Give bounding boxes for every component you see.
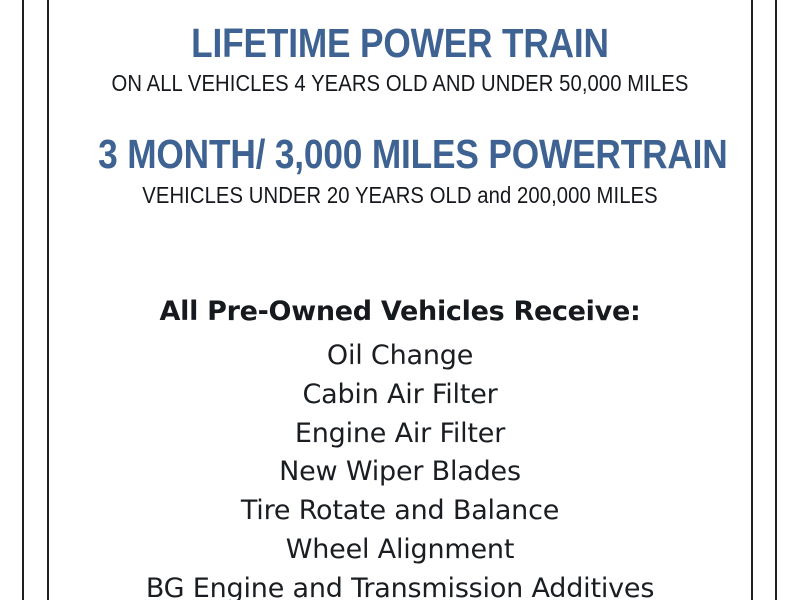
service-item: Wheel Alignment bbox=[49, 531, 751, 570]
warranty-block-lifetime: LIFETIME POWER TRAIN ON ALL VEHICLES 4 Y… bbox=[49, 0, 751, 97]
service-item: New Wiper Blades bbox=[49, 453, 751, 492]
warranty-headline-three-month: 3 MONTH/ 3,000 MILES POWERTRAIN bbox=[98, 133, 702, 176]
service-item: Cabin Air Filter bbox=[49, 376, 751, 415]
warranty-block-three-month: 3 MONTH/ 3,000 MILES POWERTRAIN VEHICLES… bbox=[49, 97, 751, 208]
warranty-subhead-three-month: VEHICLES UNDER 20 YEARS OLD and 200,000 … bbox=[91, 183, 709, 209]
border-rule-right-outer bbox=[775, 0, 777, 600]
services-section: All Pre-Owned Vehicles Receive: Oil Chan… bbox=[49, 298, 751, 600]
services-title: All Pre-Owned Vehicles Receive: bbox=[49, 298, 751, 325]
border-rule-left-outer bbox=[22, 0, 24, 600]
warranty-flyer: LIFETIME POWER TRAIN ON ALL VEHICLES 4 Y… bbox=[0, 0, 800, 600]
service-item: BG Engine and Transmission Additives bbox=[49, 570, 751, 600]
service-item: Tire Rotate and Balance bbox=[49, 492, 751, 531]
border-rule-right-inner bbox=[751, 0, 753, 600]
warranty-subhead-lifetime: ON ALL VEHICLES 4 YEARS OLD AND UNDER 50… bbox=[91, 71, 709, 97]
flyer-content: LIFETIME POWER TRAIN ON ALL VEHICLES 4 Y… bbox=[49, 0, 751, 600]
services-list: Oil ChangeCabin Air FilterEngine Air Fil… bbox=[49, 337, 751, 600]
warranty-headline-lifetime: LIFETIME POWER TRAIN bbox=[98, 22, 702, 65]
service-item: Oil Change bbox=[49, 337, 751, 376]
service-item: Engine Air Filter bbox=[49, 415, 751, 454]
